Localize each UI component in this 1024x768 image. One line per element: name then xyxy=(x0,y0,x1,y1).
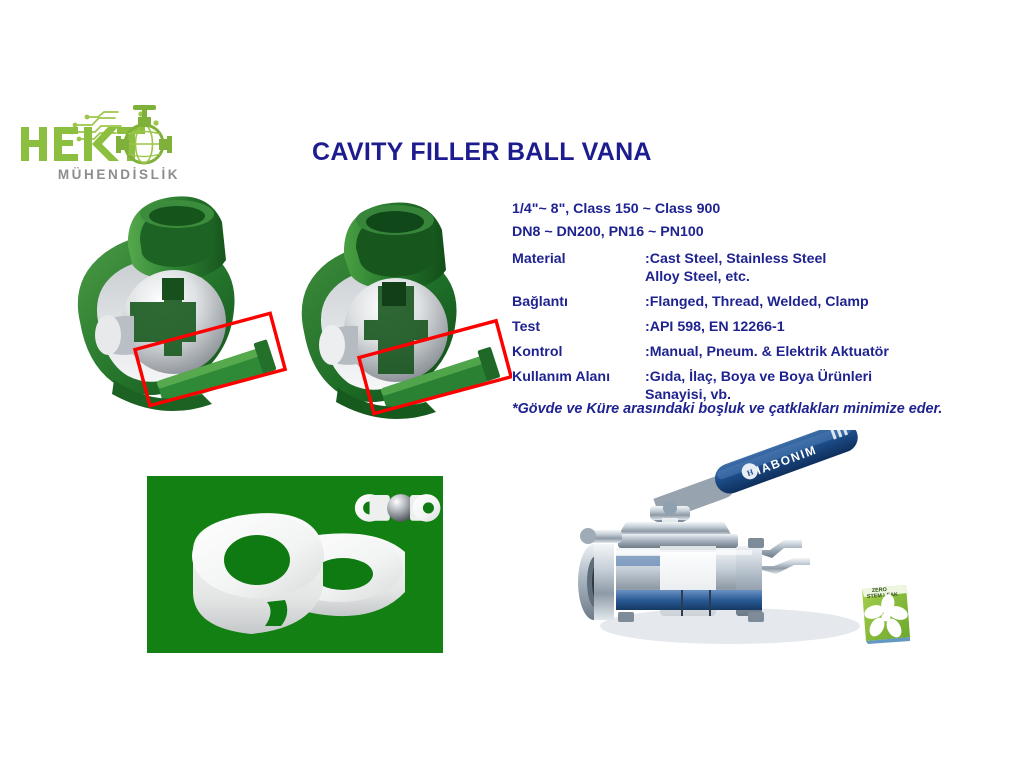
spec-key: Kullanım Alanı xyxy=(512,368,645,386)
table-row: Test :API 598, EN 12266-1 xyxy=(512,318,982,336)
spec-headline-1: 1/4"~ 8", Class 150 ~ Class 900 xyxy=(512,198,982,221)
zero-stem-leak-badge: ZERO STEM LEAK xyxy=(858,583,914,645)
page-title: CAVITY FILLER BALL VANA xyxy=(312,138,652,167)
spec-value: :Manual, Pneum. & Elektrik Aktuatör xyxy=(645,343,889,361)
valve-cutaway-left-figure xyxy=(62,182,292,422)
company-logo: MÜHENDİSLİK xyxy=(18,103,208,189)
logo-subtitle: MÜHENDİSLİK xyxy=(34,167,204,182)
table-row: Kullanım Alanı :Gıda, İlaç, Boya ve Boya… xyxy=(512,368,982,404)
table-row: Bağlantı :Flanged, Thread, Welded, Clamp xyxy=(512,293,982,311)
table-row: Material :Cast Steel, Stainless Steel Al… xyxy=(512,250,982,286)
spec-key: Kontrol xyxy=(512,343,645,361)
slide-canvas: MÜHENDİSLİK CAVITY FILLER BALL VANA 1/4"… xyxy=(0,0,1024,768)
specifications-block: 1/4"~ 8", Class 150 ~ Class 900 DN8 ~ DN… xyxy=(512,198,982,411)
valve-cutaway-right-figure xyxy=(282,182,512,422)
table-row: Kontrol :Manual, Pneum. & Elektrik Aktua… xyxy=(512,343,982,361)
footnote-text: *Gövde ve Küre arasındaki boşluk ve çatk… xyxy=(512,400,962,419)
spec-value: :Flanged, Thread, Welded, Clamp xyxy=(645,293,869,311)
logo-mark-icon xyxy=(18,103,208,165)
spec-key: Material xyxy=(512,250,645,268)
spec-key: Test xyxy=(512,318,645,336)
spec-headline-2: DN8 ~ DN200, PN16 ~ PN100 xyxy=(512,221,982,244)
spec-value: :API 598, EN 12266-1 xyxy=(645,318,785,336)
spec-value: :Gıda, İlaç, Boya ve Boya Ürünleri Sanay… xyxy=(645,368,872,404)
spec-table: Material :Cast Steel, Stainless Steel Al… xyxy=(512,250,982,404)
cavity-filler-seats-panel xyxy=(147,476,443,653)
spec-key: Bağlantı xyxy=(512,293,645,311)
spec-value: :Cast Steel, Stainless Steel Alloy Steel… xyxy=(645,250,826,286)
